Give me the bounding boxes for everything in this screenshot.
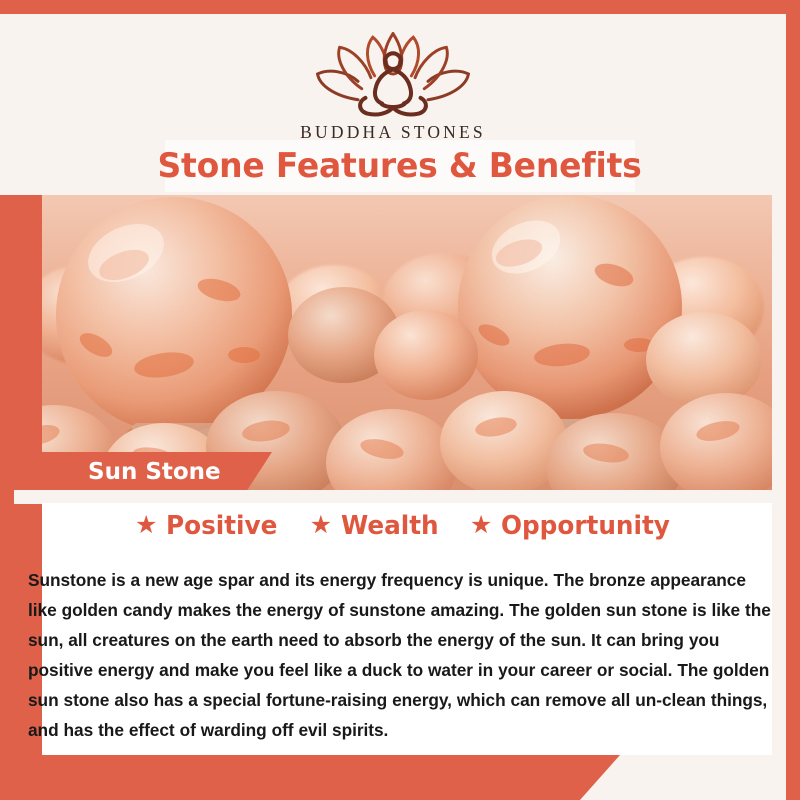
keyword-label-opportunity: Opportunity	[501, 511, 670, 541]
buddha-stones-logo-icon	[298, 28, 488, 120]
star-icon: ★	[135, 513, 157, 538]
body-cream-strip	[14, 490, 772, 504]
keyword-item-opportunity: ★ Opportunity	[470, 511, 679, 541]
stone-name-tab: Sun Stone	[0, 452, 272, 492]
body-panel: ★ Positive ★ Wealth ★ Opportunity Sunsto…	[42, 503, 772, 755]
frame-right	[786, 0, 800, 800]
keyword-item-wealth: ★ Wealth	[310, 511, 444, 541]
sunstone-photo	[14, 195, 772, 490]
star-icon: ★	[470, 513, 492, 538]
keyword-label-wealth: Wealth	[341, 511, 439, 541]
page-title: Stone Features & Benefits	[158, 146, 642, 186]
keyword-label-positive: Positive	[166, 511, 277, 541]
star-icon: ★	[310, 513, 332, 538]
description-paragraph: Sunstone is a new age spar and its energ…	[28, 565, 778, 745]
stone-name-label: Sun Stone	[88, 459, 221, 485]
keyword-item-positive: ★ Positive	[135, 511, 284, 541]
keyword-row: ★ Positive ★ Wealth ★ Opportunity	[42, 511, 772, 541]
stone-features-infographic: BUDDHA STONES Stone Features & Benefits	[0, 0, 800, 800]
frame-top	[0, 0, 800, 14]
frame-bottom	[0, 755, 620, 800]
title-banner: Stone Features & Benefits	[165, 140, 635, 192]
